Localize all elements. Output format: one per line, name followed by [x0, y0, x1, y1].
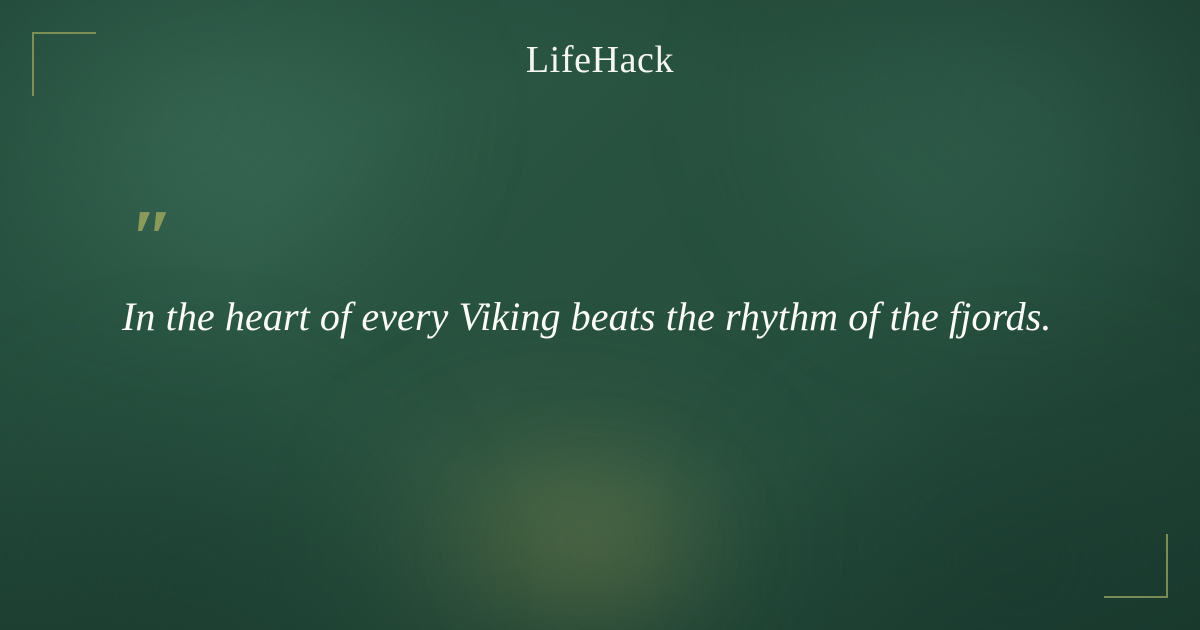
corner-bracket-bottom-right-icon	[1104, 534, 1168, 598]
quote-text: In the heart of every Viking beats the r…	[122, 291, 1100, 342]
quote-block: ″ In the heart of every Viking beats the…	[122, 215, 1100, 342]
brand-logo: LifeHack	[0, 38, 1200, 82]
quote-card: LifeHack ″ In the heart of every Viking …	[0, 0, 1200, 630]
quotation-mark-icon: ″	[130, 215, 1100, 271]
glow-olive-center	[250, 330, 870, 630]
glow-olive-accent	[420, 420, 780, 630]
